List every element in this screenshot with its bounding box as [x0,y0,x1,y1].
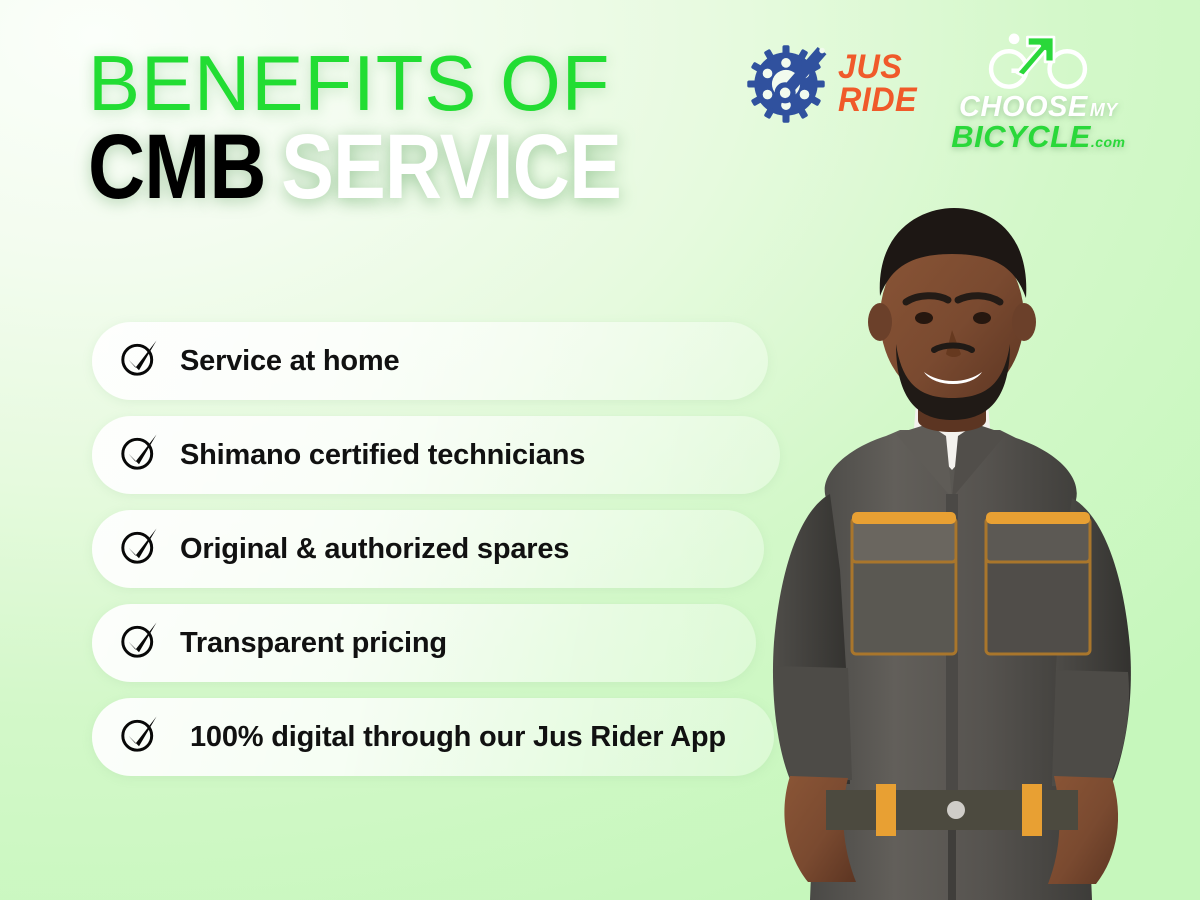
poster-canvas: BENEFITS OF CMBSERVICE [0,0,1200,900]
cmb-word-bicycle-row: BICYCLE.com [951,122,1125,151]
benefit-label: Original & authorized spares [180,533,569,566]
benefit-item[interactable]: Original & authorized spares [92,510,764,588]
headline-line-one: BENEFITS OF [88,48,708,120]
cmb-word-bicycle: BICYCLE [951,119,1091,154]
chainring-crank-icon [742,40,830,128]
bicycle-arrow-icon [984,30,1092,92]
choosemybicycle-wordmark: CHOOSEMY BICYCLE.com [951,94,1125,151]
jus-ride-line-2: RIDE [838,84,917,117]
headline-line-two: CMBSERVICE [88,124,621,211]
benefit-label: Service at home [180,345,399,378]
technician-photo [700,198,1200,900]
benefit-item[interactable]: Service at home [92,322,768,400]
benefit-label: Shimano certified technicians [180,439,585,472]
headline-block: BENEFITS OF CMBSERVICE [88,48,708,211]
technician-figure [700,198,1200,900]
circled-check-icon [118,619,160,661]
benefits-list: Service at home Shimano certified techni… [92,322,782,792]
headline-word-cmb: CMB [88,116,266,218]
cmb-word-my: MY [1090,100,1118,120]
logo-bar: JUS RIDE CHOOSEMY BICYCLE.com [742,26,1182,166]
circled-check-icon [118,337,160,379]
benefit-item[interactable]: Transparent pricing [92,604,756,682]
circled-check-icon [118,525,160,567]
circled-check-icon [118,713,160,755]
jus-ride-line-1: JUS [838,51,917,84]
benefit-item[interactable]: Shimano certified technicians [92,416,780,494]
cmb-word-choose-row: CHOOSEMY [951,94,1125,122]
cmb-word-dotcom: .com [1091,134,1126,150]
jus-ride-logo[interactable]: JUS RIDE [742,26,921,128]
benefit-label: Transparent pricing [180,627,447,660]
jus-ride-wordmark: JUS RIDE [838,51,917,116]
circled-check-icon [118,431,160,473]
choosemybicycle-logo[interactable]: CHOOSEMY BICYCLE.com [951,26,1125,151]
headline-word-service: SERVICE [281,116,621,218]
benefit-label: 100% digital through our Jus Rider App [190,721,726,754]
benefit-item[interactable]: 100% digital through our Jus Rider App [92,698,774,776]
